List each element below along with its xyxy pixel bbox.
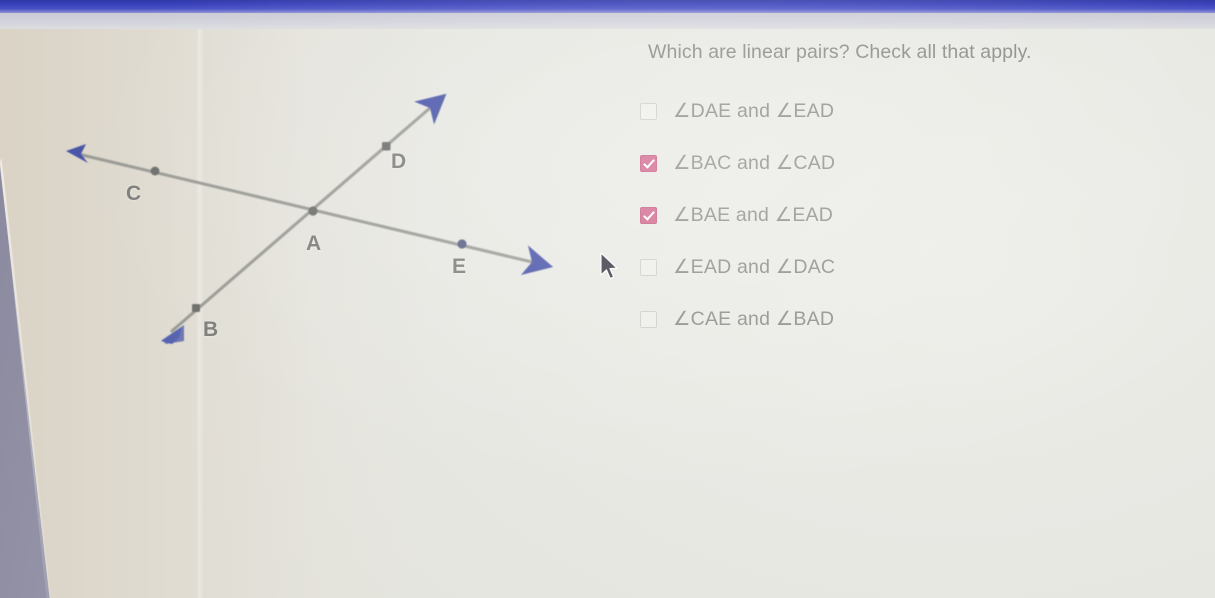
option-row[interactable]: ∠EAD and ∠DAC	[640, 255, 1160, 279]
point-C-dot	[151, 167, 160, 176]
arrowhead-B-fill	[162, 325, 184, 344]
point-B-dot	[192, 304, 200, 312]
point-D-dot	[382, 142, 391, 151]
point-E-dot	[457, 239, 466, 248]
question-title: Which are linear pairs? Check all that a…	[648, 40, 1160, 65]
point-label-E: E	[452, 255, 467, 279]
option-row[interactable]: ∠CAE and ∠BAD	[640, 307, 1160, 331]
option-label-5: ∠CAE and ∠BAD	[673, 307, 834, 331]
option-checkbox-2[interactable]	[640, 155, 657, 172]
option-checkbox-4[interactable]	[640, 259, 657, 276]
option-label-4: ∠EAD and ∠DAC	[673, 255, 835, 279]
point-label-B: B	[203, 318, 219, 342]
point-label-C: C	[126, 182, 142, 206]
point-label-A: A	[306, 232, 322, 256]
option-label-3: ∠BAE and ∠EAD	[673, 203, 833, 227]
point-A-dot	[308, 206, 317, 215]
arrowhead-C-end	[66, 144, 88, 163]
point-label-D: D	[391, 150, 407, 174]
line-BD	[172, 108, 430, 331]
option-label-2: ∠BAC and ∠CAD	[673, 151, 835, 175]
option-checkbox-3[interactable]	[640, 207, 657, 224]
option-checkbox-5[interactable]	[640, 311, 657, 328]
option-checkbox-1[interactable]	[640, 103, 657, 120]
geometry-figure: A B C D E	[0, 0, 620, 420]
option-row[interactable]: ∠BAC and ∠CAD	[640, 151, 1160, 175]
option-label-1: ∠DAE and ∠EAD	[673, 99, 834, 123]
question-panel: Which are linear pairs? Check all that a…	[640, 40, 1160, 359]
mouse-pointer-icon	[598, 252, 620, 282]
option-row[interactable]: ∠DAE and ∠EAD	[640, 99, 1160, 123]
photo-frame: A B C D E Which are linear pairs? Check …	[0, 0, 1215, 598]
figure-svg	[0, 0, 620, 420]
option-row[interactable]: ∠BAE and ∠EAD	[640, 203, 1160, 227]
